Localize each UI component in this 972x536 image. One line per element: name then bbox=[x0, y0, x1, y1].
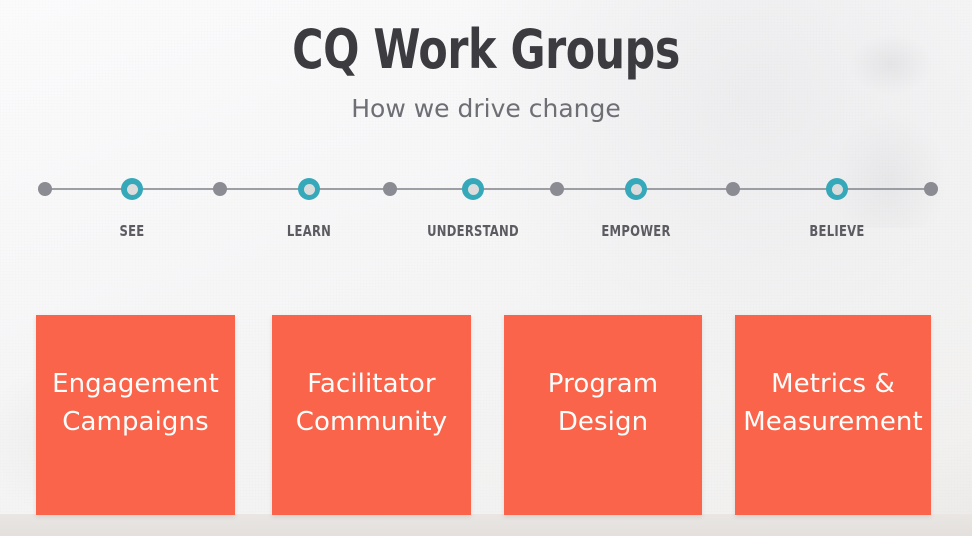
work-group-card-label: Engagement Campaigns bbox=[52, 365, 219, 442]
timeline-ring-icon bbox=[462, 178, 484, 200]
page-title: CQ Work Groups bbox=[58, 22, 913, 79]
timeline-dot-icon bbox=[38, 182, 52, 196]
timeline-step-dot[interactable] bbox=[38, 182, 52, 196]
timeline-label-text: LEARN bbox=[287, 222, 331, 240]
work-group-card-label: Program Design bbox=[548, 365, 658, 442]
timeline-dot-icon bbox=[726, 182, 740, 196]
timeline-label-text: BELIEVE bbox=[809, 222, 864, 240]
timeline-step-dot[interactable] bbox=[550, 182, 564, 196]
timeline-step-dot[interactable] bbox=[726, 182, 740, 196]
work-group-card[interactable]: Engagement Campaigns bbox=[36, 315, 235, 515]
timeline-ring-icon bbox=[826, 178, 848, 200]
work-group-card[interactable]: Program Design bbox=[504, 315, 702, 515]
work-group-card-label: Metrics & Measurement bbox=[743, 365, 923, 442]
timeline-label-see: SEE bbox=[117, 222, 146, 240]
timeline-label-text: EMPOWER bbox=[601, 222, 670, 240]
timeline-milestone-marker[interactable] bbox=[826, 178, 848, 200]
timeline-milestone-marker[interactable] bbox=[298, 178, 320, 200]
work-group-card[interactable]: Facilitator Community bbox=[272, 315, 471, 515]
timeline-label-text: SEE bbox=[120, 222, 145, 240]
timeline-step-dot[interactable] bbox=[924, 182, 938, 196]
timeline-label-empower: EMPOWER bbox=[596, 222, 677, 240]
timeline-dot-icon bbox=[924, 182, 938, 196]
bottom-band bbox=[0, 514, 972, 536]
timeline-milestone-marker[interactable] bbox=[625, 178, 647, 200]
work-group-card[interactable]: Metrics & Measurement bbox=[735, 315, 931, 515]
timeline-ring-icon bbox=[625, 178, 647, 200]
timeline-label-believe: BELIEVE bbox=[805, 222, 869, 240]
timeline: SEELEARNUNDERSTANDEMPOWERBELIEVE bbox=[0, 160, 972, 256]
timeline-label-learn: LEARN bbox=[283, 222, 334, 240]
timeline-step-dot[interactable] bbox=[383, 182, 397, 196]
timeline-axis-line bbox=[45, 188, 931, 190]
slide-canvas: CQ Work Groups How we drive change SEELE… bbox=[0, 0, 972, 536]
timeline-ring-icon bbox=[298, 178, 320, 200]
work-group-cards: Engagement CampaignsFacilitator Communit… bbox=[0, 315, 972, 516]
page-subtitle: How we drive change bbox=[0, 94, 972, 124]
timeline-dot-icon bbox=[213, 182, 227, 196]
timeline-label-text: UNDERSTAND bbox=[427, 222, 519, 240]
timeline-ring-icon bbox=[121, 178, 143, 200]
timeline-step-dot[interactable] bbox=[213, 182, 227, 196]
timeline-label-understand: UNDERSTAND bbox=[420, 222, 527, 240]
work-group-card-label: Facilitator Community bbox=[296, 365, 447, 442]
timeline-milestone-marker[interactable] bbox=[462, 178, 484, 200]
timeline-dot-icon bbox=[550, 182, 564, 196]
timeline-dot-icon bbox=[383, 182, 397, 196]
timeline-milestone-marker[interactable] bbox=[121, 178, 143, 200]
